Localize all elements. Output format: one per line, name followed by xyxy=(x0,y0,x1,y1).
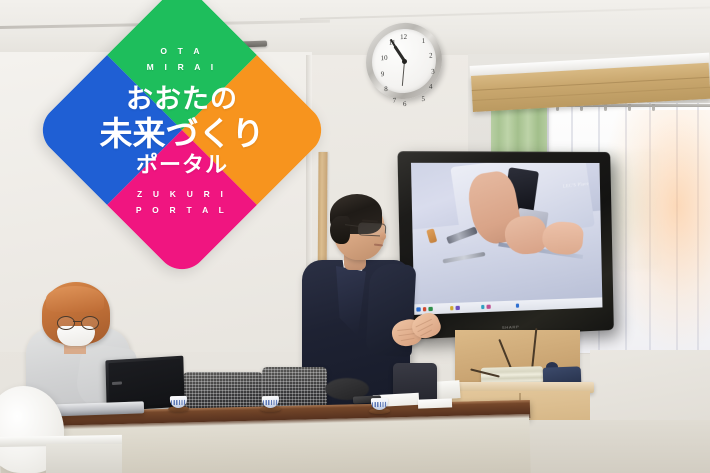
clock-numeral: 8 xyxy=(381,85,390,94)
clock-numeral: 10 xyxy=(380,54,389,63)
woman-hair-fringe xyxy=(46,286,104,312)
clock-numeral: 2 xyxy=(426,51,435,60)
glasses-icon xyxy=(57,316,97,328)
clock-numeral: 4 xyxy=(426,82,435,91)
paper-sheet xyxy=(418,398,452,408)
clock-numeral: 5 xyxy=(419,95,428,104)
clock-face: 12 1 2 3 4 5 6 7 8 9 10 11 xyxy=(371,27,436,94)
presenter-nose xyxy=(380,232,386,240)
screenshot-scene: 12 1 2 3 4 5 6 7 8 9 10 11 xyxy=(0,0,710,473)
ceiling xyxy=(0,0,710,60)
wall-clock: 12 1 2 3 4 5 6 7 8 9 10 11 xyxy=(366,23,442,99)
teacup xyxy=(369,398,390,412)
clock-numeral: 7 xyxy=(390,96,399,105)
clock-numeral: 9 xyxy=(378,70,387,79)
laptop-logo-icon xyxy=(112,381,122,385)
presenter-hair-sideburn xyxy=(330,216,350,244)
clock-numeral: 1 xyxy=(419,37,428,46)
clock-numeral: 3 xyxy=(428,67,437,76)
clock-numeral: 6 xyxy=(400,100,409,109)
clock-second-hand xyxy=(401,61,404,86)
video-left-hand xyxy=(542,220,585,255)
white-side-table-base xyxy=(46,444,122,473)
teacup xyxy=(168,396,189,410)
window-sunlight-glow xyxy=(600,110,710,350)
clock-center-pin xyxy=(401,58,406,63)
teacup xyxy=(260,396,281,410)
ceiling-seam-secondary xyxy=(300,6,710,20)
clock-numeral: 12 xyxy=(399,33,408,42)
